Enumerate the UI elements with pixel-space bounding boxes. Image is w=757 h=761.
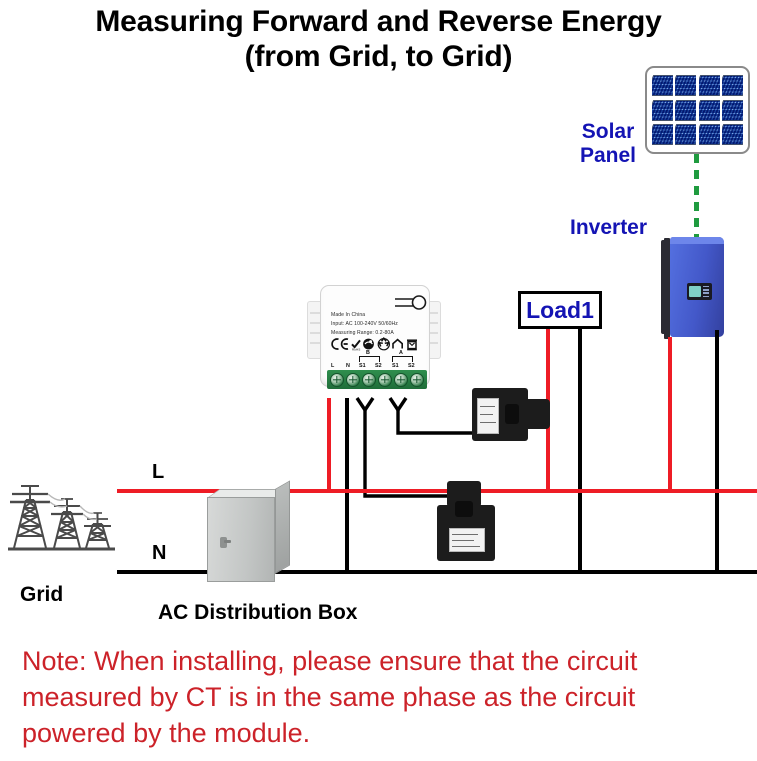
terminal-group-bar-b: [359, 356, 380, 362]
terminal-group-label-b: B: [366, 350, 370, 356]
pv-module: [699, 123, 720, 146]
solar-panel-icon: [645, 66, 750, 154]
inverter-live-wire: [668, 337, 672, 491]
terminal-screw: [378, 373, 392, 387]
terminal-label-l: L: [331, 363, 334, 369]
terminal-label-a-s2: S2: [408, 363, 415, 369]
grid-label: Grid: [20, 583, 63, 607]
energy-meter-module: Made In China Input: AC 100-240V 50/60Hz…: [307, 285, 441, 399]
inverter-buttons: [703, 286, 709, 298]
module-spec-text: Made In China Input: AC 100-240V 50/60Hz…: [331, 311, 398, 337]
inverter-label: Inverter: [570, 216, 647, 240]
module-terminal-labels: B A L N S1 S2 S1 S2: [329, 356, 423, 371]
inverter-top-edge: [670, 237, 724, 244]
solar-panel-label: Solar Panel: [573, 120, 643, 167]
title-line-1: Measuring Forward and Reverse Energy: [0, 4, 757, 39]
terminal-label-b-s2: S2: [375, 363, 382, 369]
load1-label: Load1: [526, 297, 594, 324]
load1-box: Load1: [518, 291, 602, 329]
title-line-2: (from Grid, to Grid): [0, 39, 757, 74]
terminal-screw: [394, 373, 408, 387]
module-l-wire: [327, 398, 331, 491]
pv-module: [652, 123, 673, 146]
live-line-label: L: [152, 461, 164, 484]
terminal-label-b-s1: S1: [359, 363, 366, 369]
grid-towers-icon: [8, 478, 118, 553]
ct-clamp-label: [449, 528, 485, 552]
neutral-line-label: N: [152, 542, 166, 565]
ct-clamp-lower: [437, 481, 495, 561]
pv-module: [652, 74, 673, 97]
pv-row: [652, 123, 743, 146]
pv-module: [675, 99, 696, 122]
acbox-side-face: [275, 480, 290, 574]
terminal-group-bar-a: [392, 356, 413, 362]
inverter-icon: [661, 237, 724, 337]
module-keyhole-icon: [393, 294, 427, 311]
terminal-screw: [346, 373, 360, 387]
pv-module: [652, 99, 673, 122]
ct-clamp-label: [477, 398, 499, 434]
pv-module: [699, 99, 720, 122]
pv-module: [675, 123, 696, 146]
acbox-front-door: [207, 497, 275, 582]
inverter-lcd: [689, 286, 701, 297]
pv-row: [652, 99, 743, 122]
module-n-wire: [345, 398, 349, 572]
pv-module: [675, 74, 696, 97]
pv-module: [722, 99, 743, 122]
load1-neutral-wire: [578, 329, 582, 572]
module-measuring-range: Measuring Range: 0.2-80A: [331, 329, 398, 338]
inverter-neutral-wire: [715, 330, 719, 572]
ac-distribution-box-icon: [207, 489, 290, 582]
pv-module: [699, 74, 720, 97]
module-input-spec: Input: AC 100-240V 50/60Hz: [331, 320, 398, 329]
terminal-label-n: N: [346, 363, 350, 369]
inverter-display: [687, 283, 712, 300]
pv-module: [722, 123, 743, 146]
module-origin: Made In China: [331, 311, 398, 320]
terminal-label-a-s1: S1: [392, 363, 399, 369]
page-title: Measuring Forward and Reverse Energy (fr…: [0, 4, 757, 75]
svg-text:RoHS: RoHS: [352, 347, 360, 351]
installation-note: Note: When installing, please ensure tha…: [22, 644, 734, 752]
pv-module: [722, 74, 743, 97]
terminal-screw: [362, 373, 376, 387]
terminal-group-label-a: A: [399, 350, 403, 356]
solar-dc-wire: [694, 154, 699, 237]
inverter-foot: [664, 238, 670, 245]
module-certification-icons: RoHS: [329, 337, 421, 351]
module-terminal-strip: [327, 370, 427, 389]
terminal-screw: [330, 373, 344, 387]
ct-clamp-upper: [472, 388, 550, 441]
pv-row: [652, 74, 743, 97]
terminal-screw: [410, 373, 424, 387]
acbox-lock-handle: [220, 537, 227, 548]
ac-distribution-box-label: AC Distribution Box: [158, 601, 358, 625]
